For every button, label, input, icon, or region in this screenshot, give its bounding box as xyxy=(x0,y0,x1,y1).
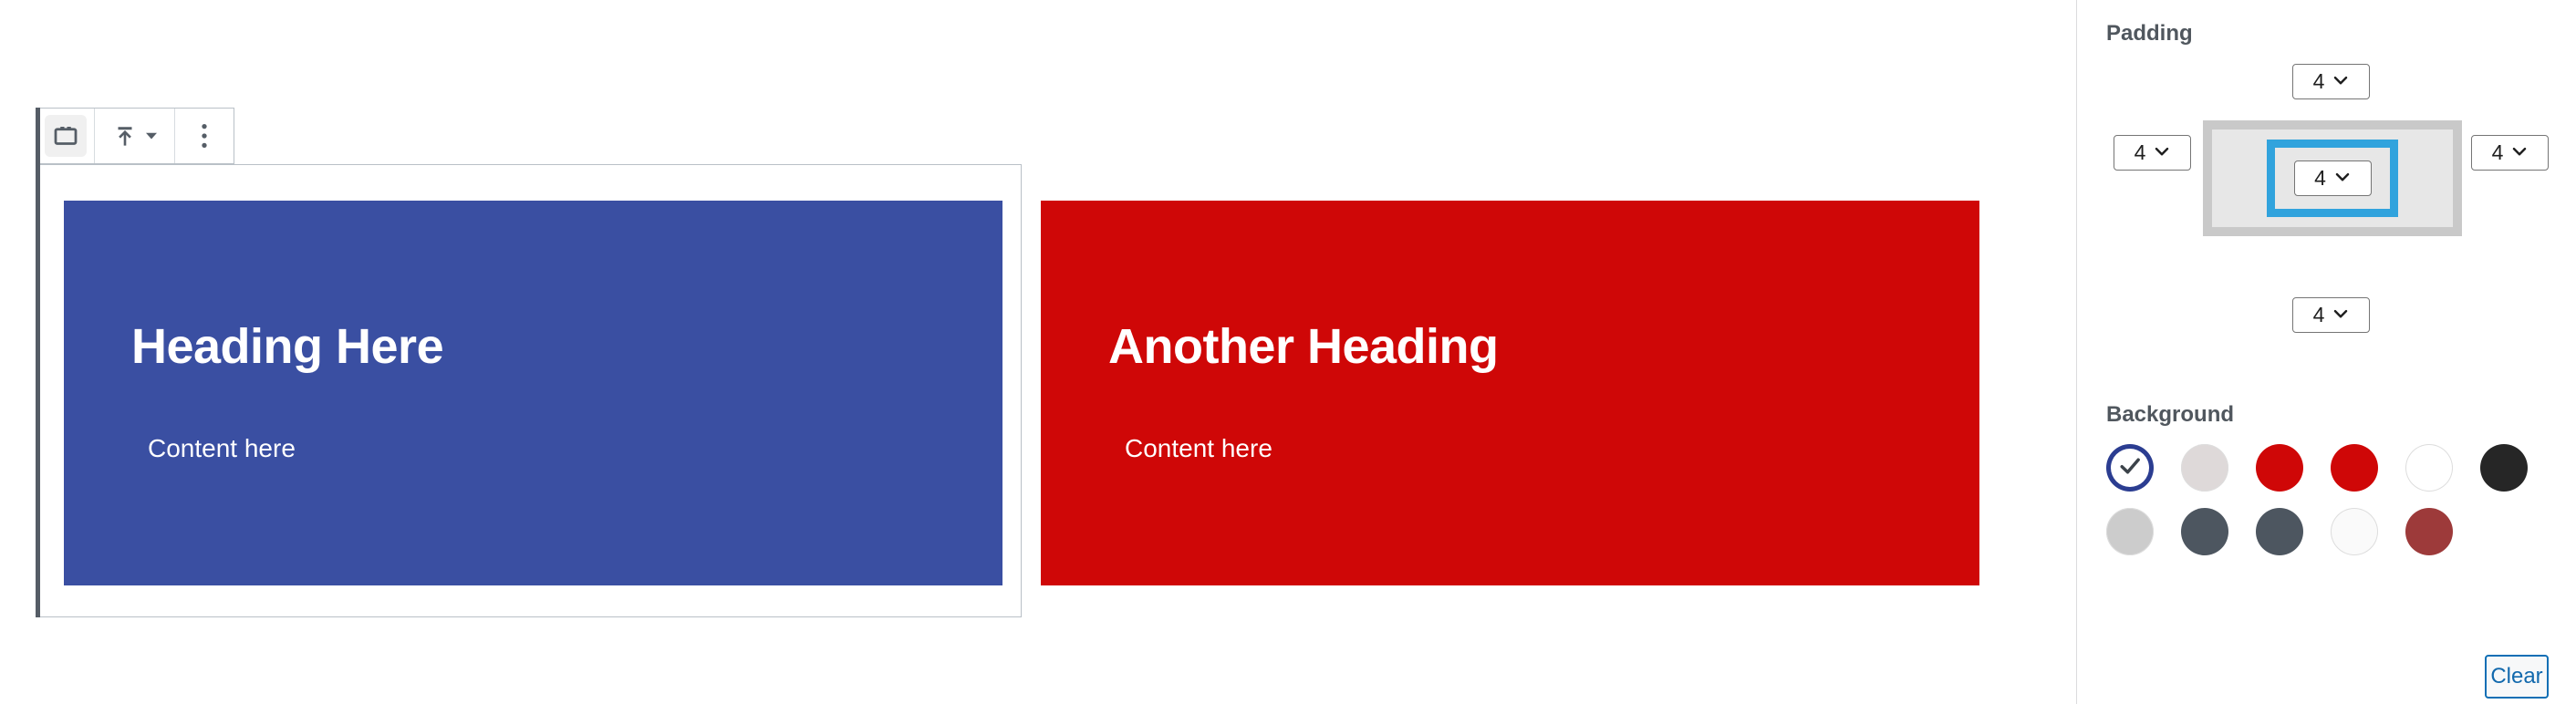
padding-all-value: 4 xyxy=(2314,168,2326,189)
columns-block-icon xyxy=(45,115,87,157)
check-icon xyxy=(2116,452,2144,484)
padding-box-middle: 4 xyxy=(2212,129,2453,227)
background-swatch-grid xyxy=(2106,444,2544,555)
kebab-menu-icon xyxy=(192,122,216,150)
block-toolbar xyxy=(36,108,234,164)
chevron-down-icon xyxy=(2511,140,2528,165)
padding-all-select[interactable]: 4 xyxy=(2294,160,2372,196)
padding-bottom-select[interactable]: 4 xyxy=(2292,297,2370,333)
padding-left-select[interactable]: 4 xyxy=(2114,135,2191,171)
swatch-near-black[interactable] xyxy=(2480,444,2528,492)
swatch-off-white[interactable] xyxy=(2331,508,2378,555)
chevron-down-icon xyxy=(2154,140,2170,165)
background-section-label: Background xyxy=(2106,402,2234,428)
padding-box-model-diagram: 4 xyxy=(2203,120,2462,236)
block-selection-rail xyxy=(36,164,40,617)
editor-canvas: Heading Here Content here Another Headin… xyxy=(0,0,2076,704)
clear-button[interactable]: Clear xyxy=(2485,655,2549,699)
swatch-red-secondary[interactable] xyxy=(2331,444,2378,492)
settings-sidebar: Padding 4 4 4 xyxy=(2076,0,2576,704)
swatch-brick-red[interactable] xyxy=(2405,508,2453,555)
editor-screen: Heading Here Content here Another Headin… xyxy=(0,0,2576,704)
swatch-light-grey[interactable] xyxy=(2106,508,2154,555)
padding-control: 4 4 4 xyxy=(2077,44,2576,390)
padding-box-highlight: 4 xyxy=(2267,140,2398,217)
swatch-slate-grey[interactable] xyxy=(2181,508,2228,555)
padding-right-value: 4 xyxy=(2492,142,2504,163)
swatch-light-grey-beige[interactable] xyxy=(2181,444,2228,492)
align-top-icon xyxy=(111,122,139,150)
column-paragraph[interactable]: Content here xyxy=(131,430,1002,466)
padding-top-select[interactable]: 4 xyxy=(2292,64,2370,99)
swatch-none-selected[interactable] xyxy=(2106,444,2154,492)
padding-right-select[interactable]: 4 xyxy=(2471,135,2549,171)
swatch-red-primary[interactable] xyxy=(2256,444,2303,492)
swatch-white[interactable] xyxy=(2405,444,2453,492)
padding-section-label: Padding xyxy=(2106,21,2193,47)
padding-bottom-value: 4 xyxy=(2313,305,2325,326)
chevron-down-icon xyxy=(2332,303,2349,327)
column-paragraph[interactable]: Content here xyxy=(1108,430,1979,466)
swatch-slate-grey-alt[interactable] xyxy=(2256,508,2303,555)
chevron-down-icon xyxy=(2334,166,2351,191)
padding-top-value: 4 xyxy=(2313,71,2325,92)
padding-left-value: 4 xyxy=(2135,142,2146,163)
vertical-align-button[interactable] xyxy=(95,109,175,163)
more-options-button[interactable] xyxy=(175,109,234,163)
column-block-red[interactable]: Another Heading Content here xyxy=(1041,201,1979,585)
columns-row: Heading Here Content here Another Headin… xyxy=(64,201,1979,585)
toolbar-selection-rail xyxy=(36,108,40,164)
chevron-down-icon xyxy=(144,129,159,143)
column-heading[interactable]: Another Heading xyxy=(1108,320,1979,374)
chevron-down-icon xyxy=(2332,69,2349,94)
block-type-button[interactable] xyxy=(36,109,95,163)
column-heading[interactable]: Heading Here xyxy=(131,320,1002,374)
column-block-blue[interactable]: Heading Here Content here xyxy=(64,201,1002,585)
